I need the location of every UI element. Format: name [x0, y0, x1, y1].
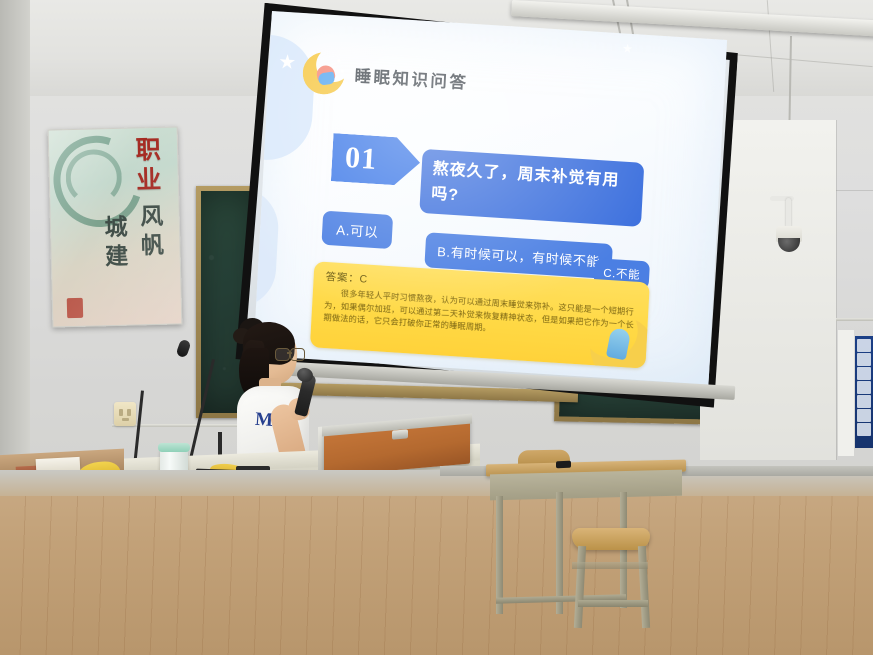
stool-foot-rail	[578, 600, 648, 607]
option-a: A.可以	[321, 211, 393, 249]
wood-floor	[0, 470, 873, 655]
wall-power-outlet[interactable]	[114, 402, 136, 426]
equipment-case-latch[interactable]	[392, 429, 408, 439]
phone-on-desk	[556, 461, 571, 469]
question-number-chip: 01	[331, 133, 421, 187]
glasses-icon	[275, 348, 301, 360]
poster-glass-glare	[49, 127, 182, 326]
desk-leg	[620, 492, 627, 608]
wall-poster: 职业 风帆 城建	[48, 126, 183, 327]
question-number: 01	[344, 141, 378, 177]
wall-box-right	[838, 330, 854, 456]
slide-header-title: 睡眠知识问答	[354, 62, 469, 93]
wall-panel-seam	[836, 120, 837, 460]
left-wall-return	[0, 0, 30, 490]
blue-wall-sign	[855, 336, 873, 448]
question-text: 熬夜久了，周末补觉有用吗?	[419, 149, 644, 227]
desk-leg	[496, 496, 503, 614]
water-cup-lid	[158, 443, 190, 452]
camera-mount-pole	[786, 198, 791, 228]
classroom-photo: 职业 风帆 城建 睡眠知识问答 01 熬夜久了，周末	[0, 0, 873, 655]
crescent-moon-sleeping-baby-icon	[302, 51, 346, 96]
star-icon	[622, 43, 633, 54]
stool-side-rail	[572, 562, 648, 569]
student-desk-apron	[490, 470, 682, 501]
